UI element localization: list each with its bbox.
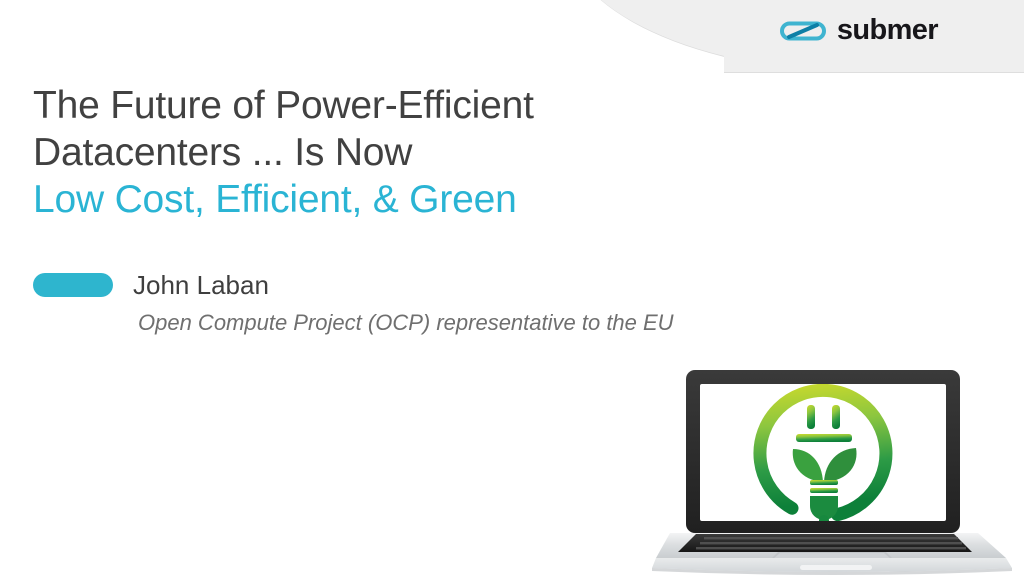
speaker-info: John Laban Open Compute Project (OCP) re… — [33, 272, 674, 335]
submer-link-mark-icon — [780, 20, 826, 42]
slide-title: The Future of Power-Efficient Datacenter… — [33, 82, 534, 223]
speaker-name-row: John Laban — [33, 272, 674, 298]
brand-name: submer — [837, 16, 938, 45]
title-line-1: The Future of Power-Efficient — [33, 82, 534, 129]
brand-logo: submer — [780, 16, 938, 45]
laptop-with-green-plug-icon — [650, 360, 1024, 576]
pill-bullet-icon — [33, 273, 113, 297]
speaker-name: John Laban — [133, 272, 269, 298]
title-line-3-accent: Low Cost, Efficient, & Green — [33, 176, 534, 223]
presentation-slide: submer The Future of Power-Efficient Dat… — [0, 0, 1024, 576]
speaker-role: Open Compute Project (OCP) representativ… — [138, 310, 674, 335]
title-line-2: Datacenters ... Is Now — [33, 129, 534, 176]
